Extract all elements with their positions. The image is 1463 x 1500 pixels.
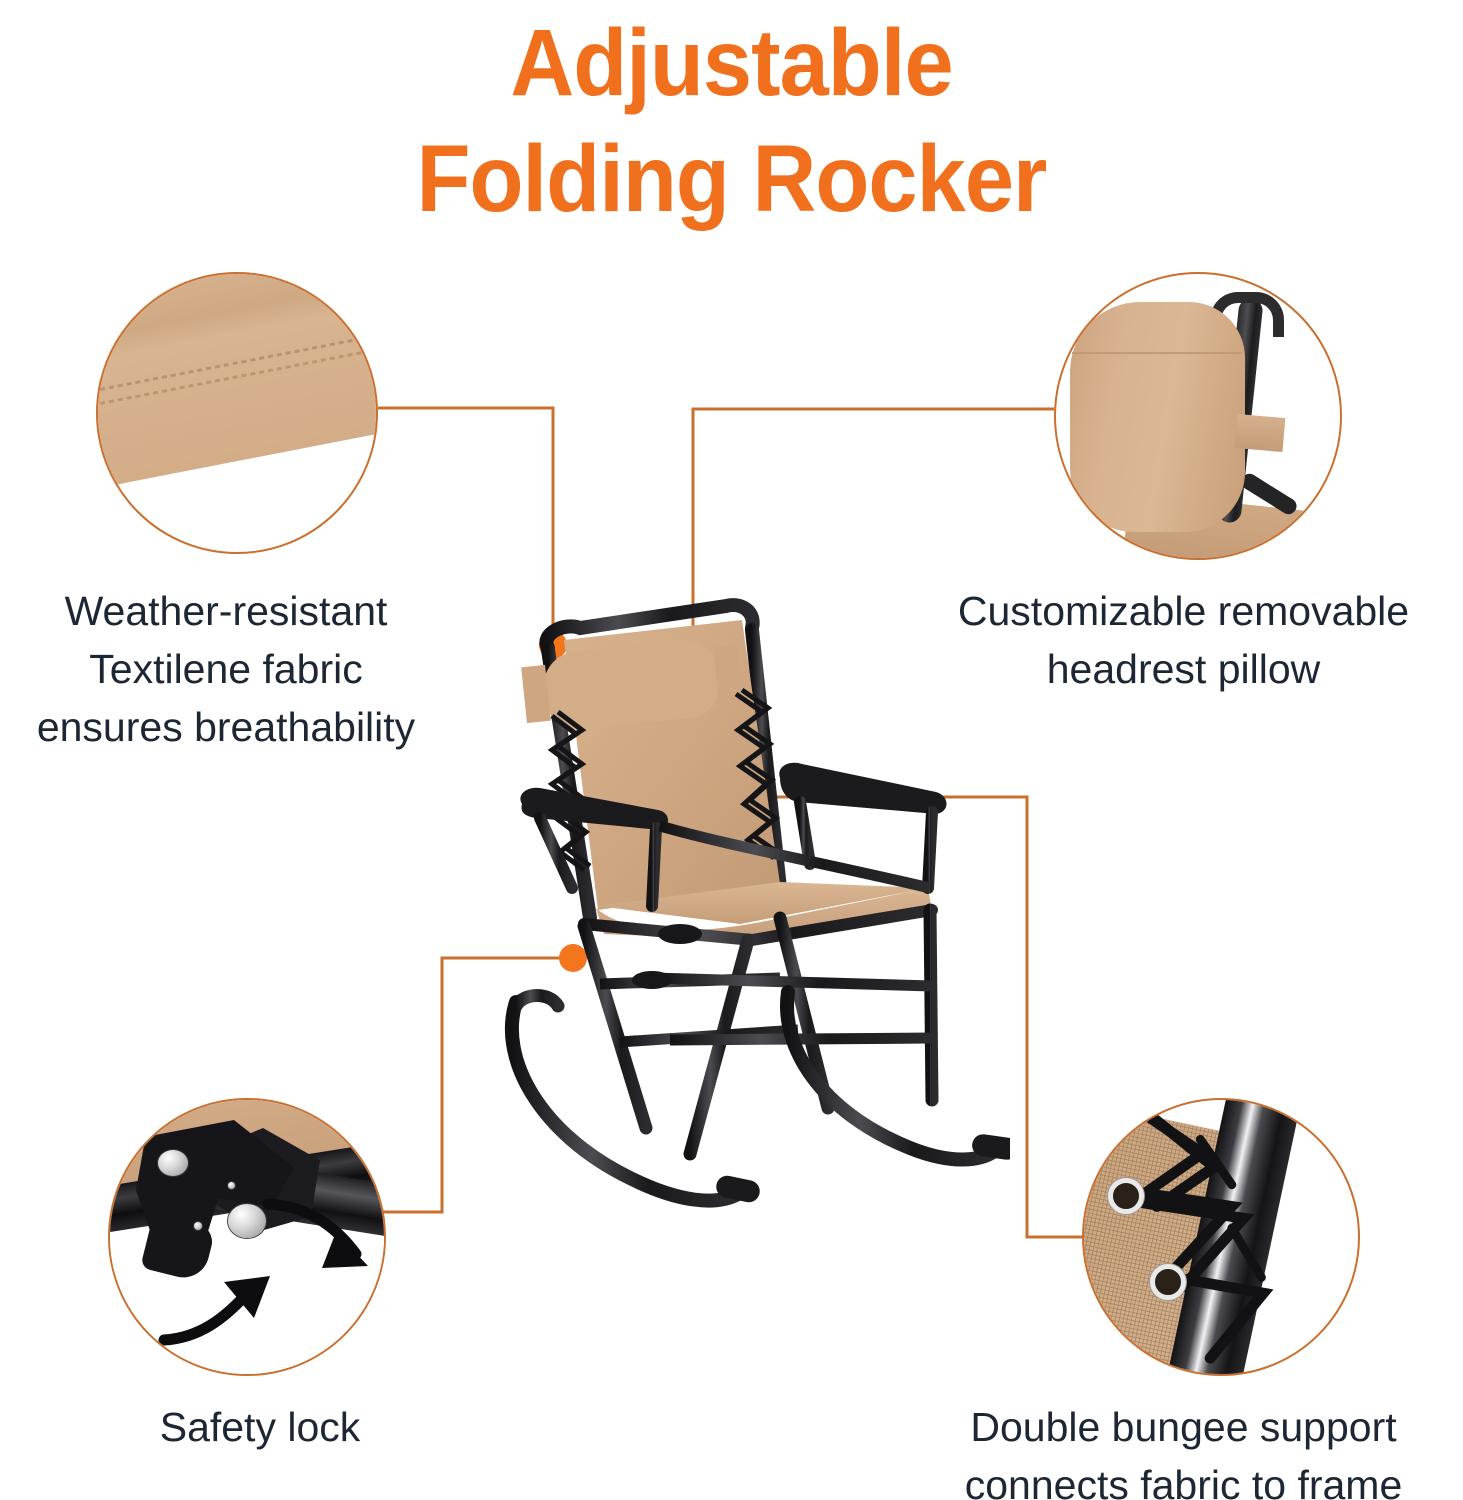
callout-circle-bungee — [1082, 1098, 1360, 1376]
headrest-closeup-image — [1056, 274, 1340, 558]
callout-label-fabric: Weather-resistant Textilene fabric ensur… — [0, 582, 466, 757]
title-line-2: Folding Rocker — [51, 122, 1412, 238]
curved-motion-arrow-down-icon — [158, 1272, 288, 1352]
bungee-cord-lacing — [1084, 1100, 1358, 1374]
callout-label-headrest: Customizable removable headrest pillow — [896, 582, 1463, 698]
callout-label-safety-lock: Safety lock — [60, 1398, 460, 1456]
curved-motion-arrow-up-icon — [260, 1196, 380, 1276]
title-line-1: Adjustable — [51, 6, 1412, 122]
safety-lock-closeup-image — [110, 1100, 384, 1374]
callout-label-bungee: Double bungee support connects fabric to… — [896, 1398, 1463, 1500]
callout-circle-safety-lock — [108, 1098, 386, 1376]
infographic-canvas: Adjustable Folding Rocker — [0, 0, 1463, 1500]
page-title: Adjustable Folding Rocker — [51, 6, 1412, 238]
callout-circle-fabric — [96, 272, 378, 554]
bungee-closeup-image — [1084, 1100, 1358, 1374]
callout-circle-headrest — [1054, 272, 1342, 560]
fabric-closeup-image — [98, 274, 376, 552]
